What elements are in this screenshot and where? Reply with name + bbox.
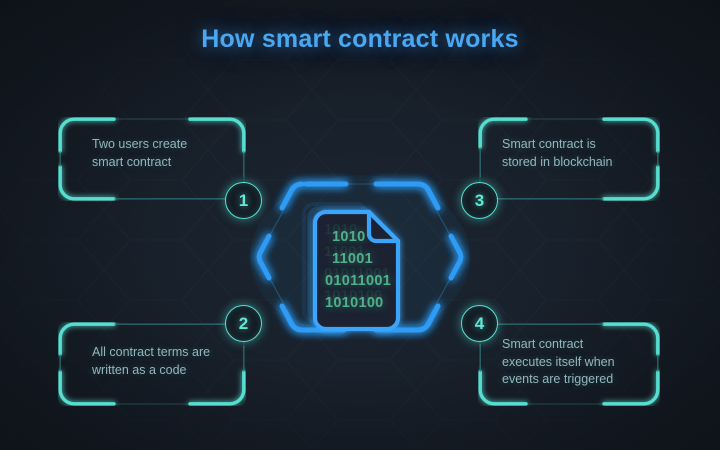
document-file-icon — [315, 212, 398, 329]
hexagon-outline — [236, 160, 484, 355]
step-three-card[interactable]: Smart contract is stored in blockchain — [478, 117, 660, 201]
step-one-card[interactable]: Two users create smart contract — [58, 117, 246, 201]
step-four-card[interactable]: Smart contract executes itself when even… — [478, 322, 660, 406]
step-two-card[interactable]: All contract terms are written as a code — [58, 322, 246, 406]
step-two-text: All contract terms are written as a code — [92, 344, 210, 379]
step-four-text: Smart contract executes itself when even… — [502, 336, 615, 389]
step-one-text: Two users create smart contract — [92, 136, 187, 171]
step-three-text: Smart contract is stored in blockchain — [502, 136, 612, 171]
page-title: How smart contract works — [0, 25, 720, 54]
infographic-canvas: How smart contract works — [0, 0, 720, 450]
center-graphic: 1010 11001 01011001 1010100 1010 11001 0… — [236, 160, 484, 355]
